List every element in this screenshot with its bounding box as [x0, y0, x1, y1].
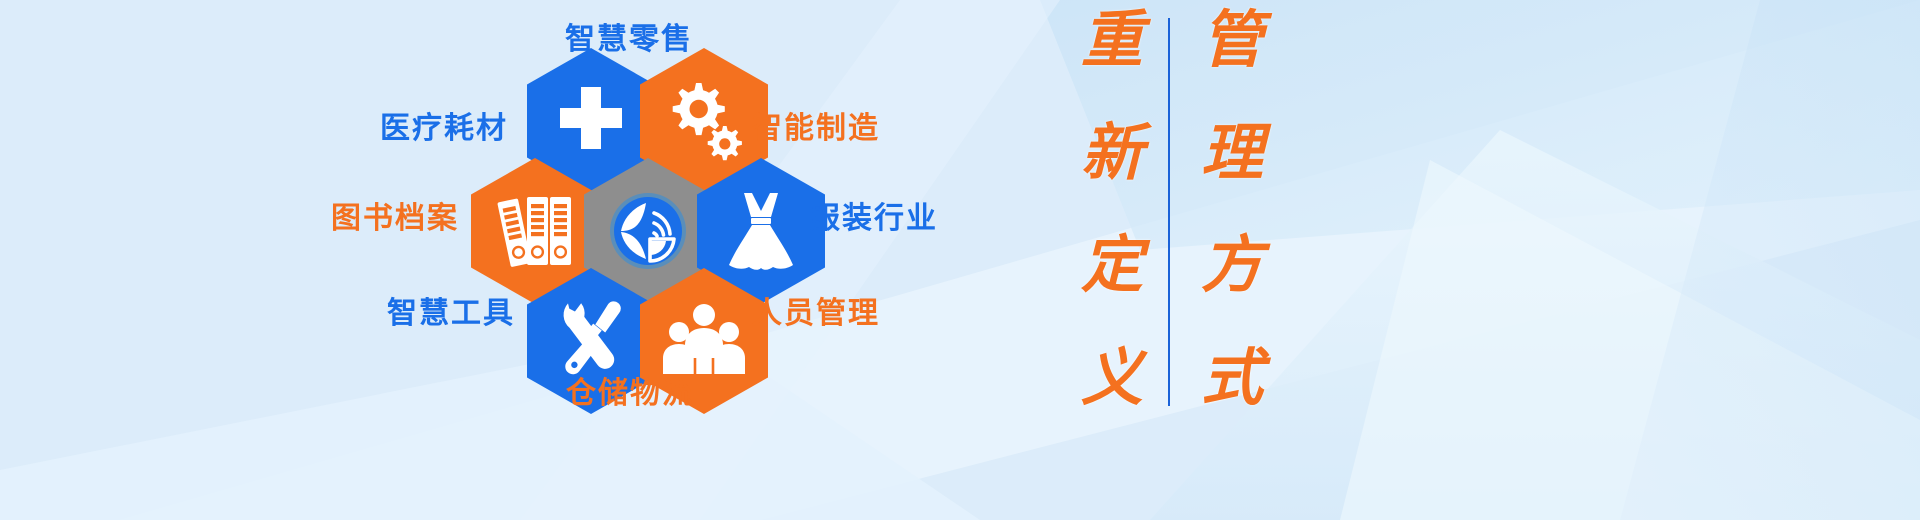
label-manufacturing: 智能制造: [752, 103, 880, 147]
label-tools: 智慧工具: [387, 288, 515, 332]
slogan-char: 方: [1201, 235, 1263, 297]
medical-cross-icon: [554, 84, 628, 158]
slogan-char: 义: [1081, 348, 1143, 410]
brand-logo-icon: [604, 187, 692, 275]
slogan-divider: [1168, 18, 1170, 406]
slogan-column-left: 重 新 定 义: [1066, 10, 1158, 410]
slogan-char: 式: [1201, 348, 1263, 410]
gears-icon: [664, 81, 744, 161]
dress-icon: [721, 189, 801, 273]
slogan-column-right: 管 理 方 式: [1186, 10, 1278, 410]
slogan-char: 管: [1201, 10, 1263, 72]
label-medical: 医疗耗材: [380, 103, 508, 147]
background-decoration: [0, 0, 1920, 520]
slogan-char: 理: [1201, 123, 1263, 185]
slogan-char: 重: [1081, 10, 1143, 72]
label-apparel: 服装行业: [810, 193, 938, 237]
label-library: 图书档案: [331, 193, 459, 237]
label-personnel: 人员管理: [752, 288, 880, 332]
promo-banner: 智慧零售 医疗耗材 智能制造 图书档案 服装行业 智慧工具 人员管理 仓储物流 …: [0, 0, 1920, 520]
label-retail: 智慧零售: [565, 14, 693, 58]
slogan-char: 新: [1081, 123, 1143, 185]
binders-icon: [496, 193, 574, 269]
label-logistics: 仓储物流: [566, 368, 694, 412]
slogan-char: 定: [1081, 235, 1143, 297]
